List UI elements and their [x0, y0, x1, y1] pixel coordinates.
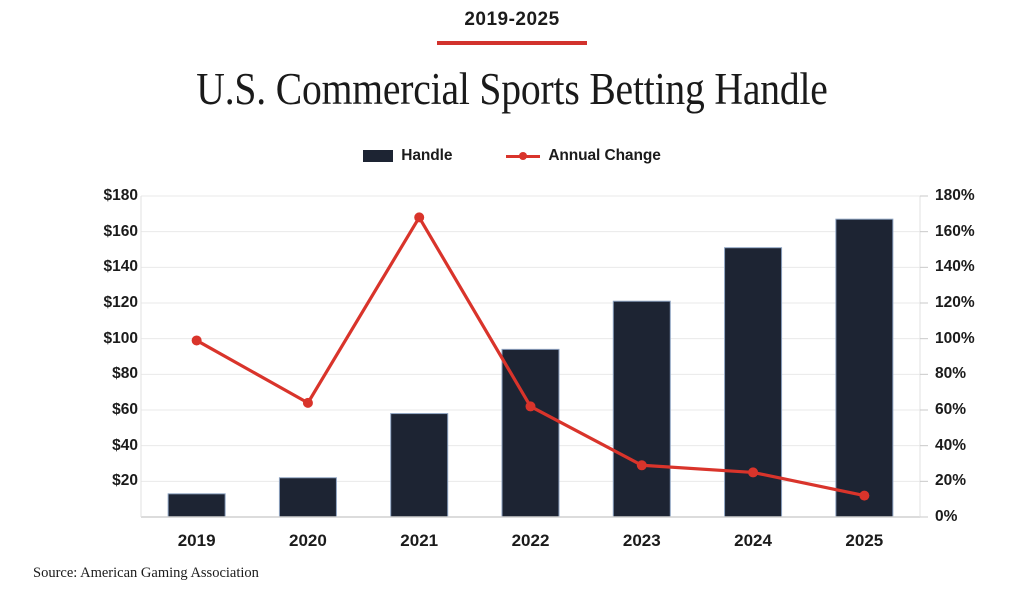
y-tick-right: 60% — [935, 401, 966, 419]
chart-canvas — [0, 0, 1024, 590]
y-axis-left-ticks: $20$40$60$80$100$120$140$160$180 — [55, 0, 138, 590]
x-tick-2019: 2019 — [147, 531, 247, 551]
x-tick-2020: 2020 — [258, 531, 358, 551]
line-marker-2021[interactable] — [414, 212, 424, 222]
bar-2023[interactable] — [613, 301, 670, 517]
y-tick-left: $40 — [55, 437, 138, 455]
x-tick-2024: 2024 — [703, 531, 803, 551]
y-tick-right: 80% — [935, 365, 966, 383]
y-tick-right: 120% — [935, 294, 975, 312]
chart-plot-area: Handle ($B) $20$40$60$80$100$120$140$160… — [0, 0, 1024, 590]
y-tick-left: $180 — [55, 187, 138, 205]
y-tick-right: 160% — [935, 223, 975, 241]
y-tick-left: $140 — [55, 258, 138, 276]
bar-series — [168, 219, 893, 517]
y-tick-right: 140% — [935, 258, 975, 276]
bar-2019[interactable] — [168, 494, 225, 517]
y-tick-right: 100% — [935, 330, 975, 348]
y-tick-right: 180% — [935, 187, 975, 205]
line-marker-2022[interactable] — [526, 401, 536, 411]
x-tick-2022: 2022 — [481, 531, 581, 551]
x-tick-2023: 2023 — [592, 531, 692, 551]
y-tick-right: 20% — [935, 472, 966, 490]
y-tick-left: $120 — [55, 294, 138, 312]
line-marker-2023[interactable] — [637, 460, 647, 470]
x-tick-2025: 2025 — [814, 531, 914, 551]
line-marker-2024[interactable] — [748, 467, 758, 477]
x-tick-2021: 2021 — [369, 531, 469, 551]
bar-2020[interactable] — [279, 478, 336, 517]
bar-2021[interactable] — [391, 414, 448, 517]
line-marker-2019[interactable] — [192, 335, 202, 345]
source-note: Source: American Gaming Association — [33, 565, 259, 582]
line-marker-2020[interactable] — [303, 398, 313, 408]
y-tick-right: 0% — [935, 508, 957, 526]
y-tick-left: $80 — [55, 365, 138, 383]
y-tick-left: $20 — [55, 472, 138, 490]
y-axis-right-ticks: 0%20%40%60%80%100%120%140%160%180% — [935, 0, 1020, 590]
y-tick-left: $160 — [55, 223, 138, 241]
y-tick-right: 40% — [935, 437, 966, 455]
line-marker-2025[interactable] — [859, 491, 869, 501]
y-tick-left: $60 — [55, 401, 138, 419]
y-tick-left: $100 — [55, 330, 138, 348]
bar-2025[interactable] — [836, 219, 893, 517]
